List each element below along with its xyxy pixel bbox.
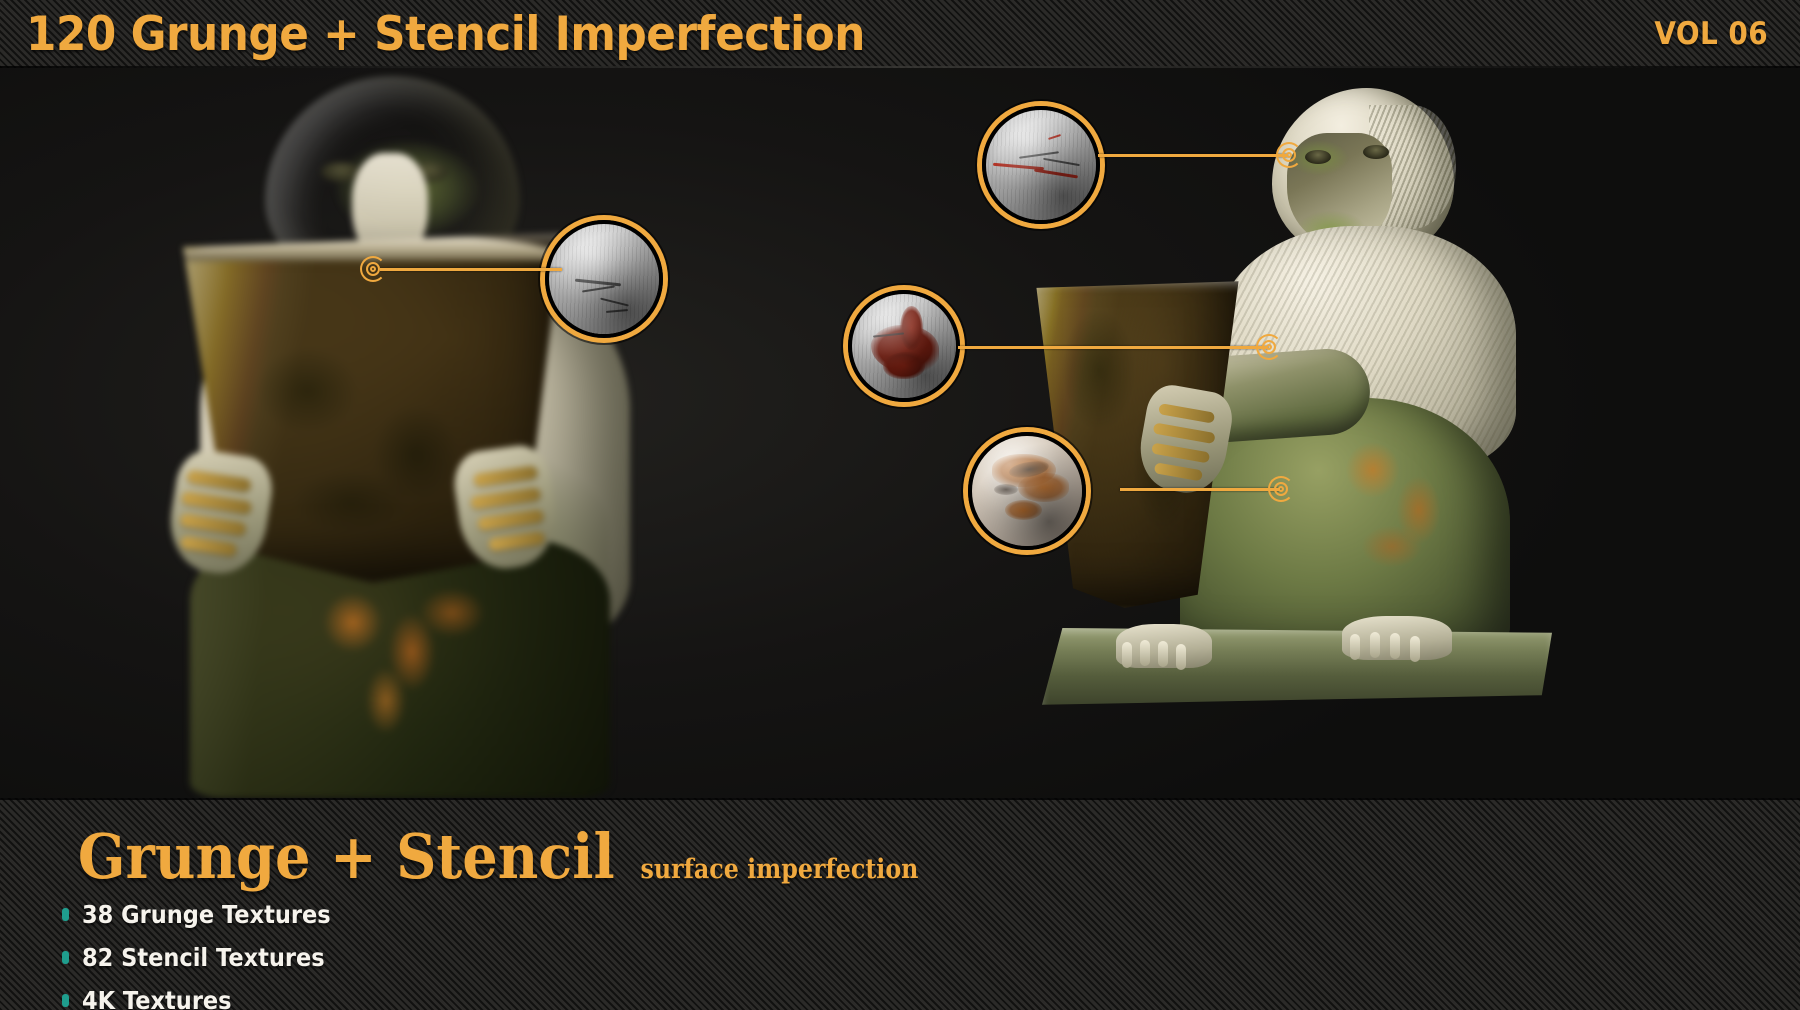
left-finger	[477, 509, 544, 531]
left-finger	[186, 470, 251, 493]
left-finger	[473, 465, 538, 487]
feature-label: 4K Textures	[82, 988, 232, 1010]
left-preview-image	[80, 68, 720, 798]
bullet-icon	[62, 951, 69, 964]
bullet-icon	[62, 908, 69, 921]
right-toe	[1176, 644, 1186, 670]
right-toe	[1350, 634, 1360, 660]
rust-blob	[1005, 500, 1042, 520]
poster-footer: Grunge + Stencil surface imperfection 38…	[0, 798, 1800, 1010]
right-toe	[1370, 632, 1380, 658]
splatter-blob	[883, 352, 925, 379]
right-toe	[1390, 633, 1400, 659]
callout-sphere-grey-crack[interactable]	[545, 220, 663, 338]
left-rust-patch	[282, 564, 517, 759]
footer-title-row: Grunge + Stencil surface imperfection	[48, 826, 1800, 888]
left-finger	[181, 491, 252, 515]
right-legs-rust	[1292, 419, 1483, 601]
splatter-blob	[900, 306, 923, 350]
right-preview-image	[1020, 68, 1640, 798]
callout-leader-line	[1098, 154, 1288, 157]
feature-list: 38 Grunge Textures 82 Stencil Textures 4…	[48, 902, 1800, 1010]
list-item: 4K Textures	[62, 988, 1800, 1010]
right-toe	[1140, 640, 1150, 666]
left-finger	[180, 535, 237, 557]
callout-leader-line	[380, 268, 562, 271]
left-finger	[179, 513, 246, 536]
right-toe	[1122, 642, 1132, 668]
right-finger	[1153, 422, 1216, 444]
page-title: 120 Grunge + Stencil Imperfection	[26, 11, 865, 58]
callout-leader-line	[1120, 488, 1280, 491]
left-finger	[470, 487, 541, 510]
volume-badge: VOL 06	[1654, 16, 1768, 52]
right-eye-left	[1305, 150, 1331, 164]
left-finger	[488, 531, 545, 552]
list-item: 38 Grunge Textures	[62, 902, 1800, 927]
rust-blob	[1018, 473, 1069, 502]
right-foot-back	[1342, 616, 1452, 660]
right-finger	[1154, 462, 1203, 481]
feature-label: 38 Grunge Textures	[82, 902, 331, 927]
feature-label: 82 Stencil Textures	[82, 945, 325, 970]
callout-anchor-marker-icon	[1276, 142, 1302, 168]
right-toe	[1158, 641, 1168, 667]
callout-sphere-hairline-crack[interactable]	[982, 106, 1100, 224]
list-item: 82 Stencil Textures	[62, 945, 1800, 970]
right-foot-front	[1116, 624, 1212, 668]
footer-title: Grunge + Stencil	[78, 826, 615, 888]
right-eye-right	[1363, 145, 1389, 159]
bullet-icon	[62, 994, 69, 1007]
right-finger	[1151, 442, 1210, 463]
right-toe	[1410, 636, 1420, 662]
callout-anchor-marker-icon	[1256, 334, 1282, 360]
callout-anchor-marker-icon	[1268, 476, 1294, 502]
footer-subtitle: surface imperfection	[641, 856, 919, 883]
callout-sphere-red-splatter[interactable]	[848, 290, 960, 402]
right-finger	[1158, 403, 1215, 424]
callout-leader-line	[958, 346, 1268, 349]
poster-root: 120 Grunge + Stencil Imperfection VOL 06…	[0, 0, 1800, 1010]
sphere-surface-lines	[549, 224, 659, 334]
callout-sphere-rust-grunge[interactable]	[968, 432, 1086, 550]
callout-anchor-marker-icon	[360, 256, 386, 282]
poster-header: 120 Grunge + Stencil Imperfection VOL 06	[0, 0, 1800, 68]
preview-stage	[0, 68, 1800, 798]
